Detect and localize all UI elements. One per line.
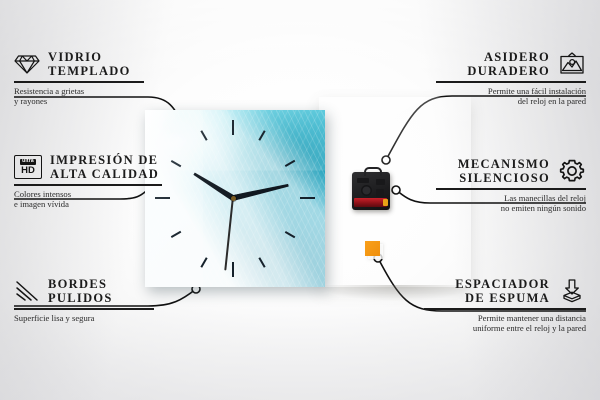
feature-title: IMPRESIÓN DE ALTA CALIDAD (50, 153, 159, 181)
feature-asidero-duradero: ASIDERO DURADERO Permite una fácil insta… (436, 50, 586, 107)
feature-description: Superficie lisa y segura (14, 313, 154, 324)
mechanism-dial (361, 185, 372, 196)
feature-rule (436, 81, 586, 83)
feature-title: BORDES PULIDOS (48, 277, 113, 305)
feature-impresion-alta-calidad: ultra HD IMPRESIÓN DE ALTA CALIDAD Color… (14, 153, 162, 210)
diamond-icon (14, 53, 40, 75)
mechanism-battery (354, 198, 387, 207)
clock-tick-12 (232, 120, 234, 135)
feature-rule (424, 308, 586, 310)
feature-header: MECANISMO SILENCIOSO (436, 157, 586, 185)
polished-edges-icon (14, 280, 40, 302)
gear-icon (558, 158, 586, 184)
foam-spacer-sample (365, 241, 380, 256)
clock-mechanism (352, 172, 390, 210)
ultra-hd-icon-label-hd: HD (21, 166, 35, 176)
wall-clock-product (145, 110, 325, 287)
feature-bordes-pulidos: BORDES PULIDOS Superficie lisa y segura (14, 277, 154, 323)
foam-spacer-icon (558, 279, 586, 303)
feature-header: VIDRIO TEMPLADO (14, 50, 144, 78)
feature-description: Permite mantener una distancia uniforme … (424, 313, 586, 334)
infographic-canvas: VIDRIO TEMPLADO Resistencia a grietas y … (0, 0, 600, 400)
wall-mount-frame-icon (558, 52, 586, 76)
mechanism-slot (376, 189, 384, 197)
feature-header: ultra HD IMPRESIÓN DE ALTA CALIDAD (14, 153, 162, 181)
feature-rule (14, 184, 162, 186)
mechanism-hanger-icon (364, 167, 382, 176)
feature-vidrio-templado: VIDRIO TEMPLADO Resistencia a grietas y … (14, 50, 144, 107)
mechanism-slot (376, 179, 385, 185)
feature-mecanismo-silencioso: MECANISMO SILENCIOSO Las manecillas del … (436, 157, 586, 214)
feature-title: ASIDERO DURADERO (467, 50, 550, 78)
clock-tick-3 (300, 197, 315, 199)
feature-description: Permite una fácil instalación del reloj … (436, 86, 586, 107)
clock-tick-6 (232, 262, 234, 277)
feature-rule (14, 81, 144, 83)
feature-description: Resistencia a grietas y rayones (14, 86, 144, 107)
feature-title: ESPACIADOR DE ESPUMA (455, 277, 550, 305)
feature-title: VIDRIO TEMPLADO (48, 50, 131, 78)
feature-rule (436, 188, 586, 190)
mechanism-slot (357, 178, 369, 183)
ultra-hd-icon: ultra HD (14, 155, 42, 179)
feature-header: ESPACIADOR DE ESPUMA (424, 277, 586, 305)
feature-rule (14, 308, 154, 310)
feature-description: Las manecillas del reloj no emiten ningú… (436, 193, 586, 214)
feature-description: Colores intensos e imagen vívida (14, 189, 162, 210)
ultra-hd-icon-label-ultra: ultra (20, 159, 36, 165)
feature-espaciador-de-espuma: ESPACIADOR DE ESPUMA Permite mantener un… (424, 277, 586, 334)
feature-title: MECANISMO SILENCIOSO (458, 157, 550, 185)
feature-header: ASIDERO DURADERO (436, 50, 586, 78)
feature-header: BORDES PULIDOS (14, 277, 154, 305)
clock-center-cap (231, 196, 236, 201)
